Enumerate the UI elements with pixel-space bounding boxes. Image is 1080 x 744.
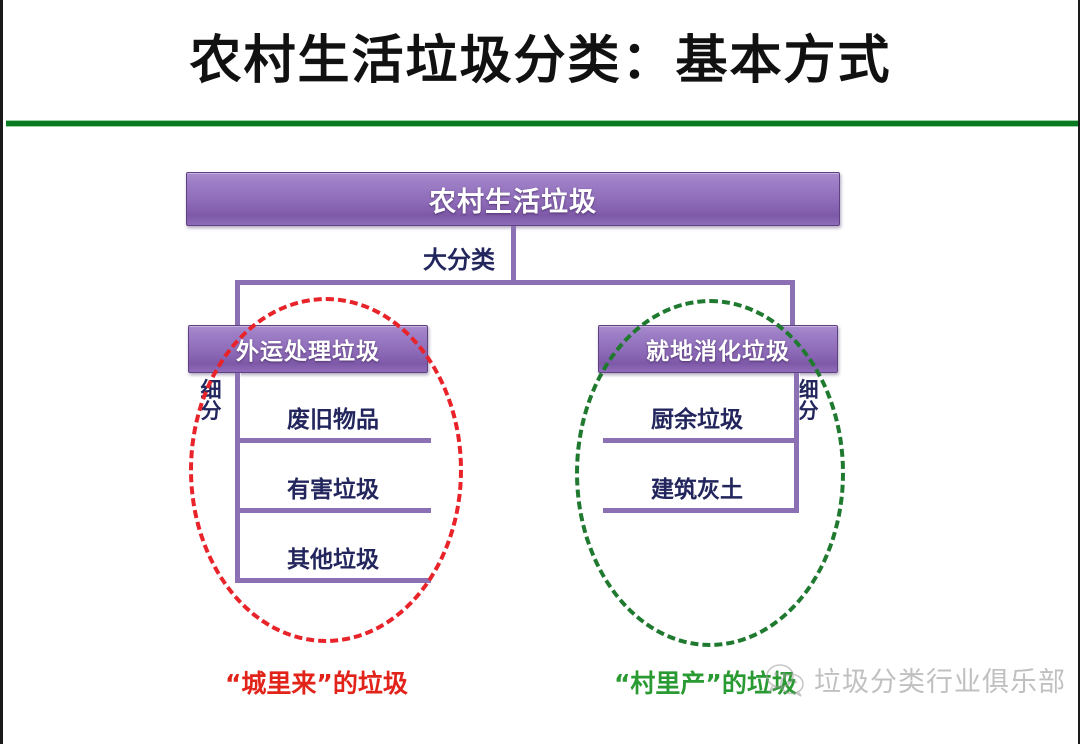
sub-item-label: 废旧物品 xyxy=(287,400,379,434)
sub-item-label: 建筑灰土 xyxy=(651,470,743,504)
node-branch-left-label: 外运处理垃圾 xyxy=(236,332,380,366)
node-root: 农村生活垃圾 xyxy=(186,172,840,226)
node-branch-right: 就地消化垃圾 xyxy=(598,325,838,373)
sub-item-left-1: 有害垃圾 xyxy=(235,443,431,513)
slide-canvas: 农村生活垃圾分类：基本方式 农村生活垃圾 大分类 外运处理垃圾 就地消化垃圾 细… xyxy=(0,0,1080,744)
sub-item-vertical-rule xyxy=(794,443,799,513)
sub-item-vertical-rule xyxy=(235,443,240,513)
node-root-label: 农村生活垃圾 xyxy=(429,180,597,219)
sub-item-left-0: 废旧物品 xyxy=(235,373,431,443)
sub-item-label: 其他垃圾 xyxy=(287,540,379,574)
sub-item-vertical-rule xyxy=(794,373,799,443)
connector-right-vertical xyxy=(790,280,795,328)
sub-item-vertical-rule xyxy=(235,373,240,443)
sub-item-left-2: 其他垃圾 xyxy=(235,513,431,583)
wechat-icon xyxy=(765,663,805,697)
slide-title-bar: 农村生活垃圾分类：基本方式 xyxy=(3,0,1078,122)
watermark-text: 垃圾分类行业俱乐部 xyxy=(814,660,1066,699)
title-divider-rule xyxy=(6,121,1080,126)
sub-item-vertical-rule xyxy=(235,513,240,583)
node-branch-right-label: 就地消化垃圾 xyxy=(646,332,790,366)
sub-item-label: 有害垃圾 xyxy=(287,470,379,504)
level-label-sub-right: 细分 xyxy=(796,380,820,423)
sub-item-label: 厨余垃圾 xyxy=(651,400,743,434)
connector-root-vertical xyxy=(511,226,516,282)
sub-item-underline xyxy=(235,578,431,583)
caption-left: “城里来”的垃圾 xyxy=(225,664,408,700)
connector-horizontal-split xyxy=(235,280,795,285)
sub-item-right-1: 建筑灰土 xyxy=(603,443,799,513)
watermark: 垃圾分类行业俱乐部 xyxy=(765,660,1066,699)
connector-left-vertical xyxy=(235,280,240,328)
page-title: 农村生活垃圾分类：基本方式 xyxy=(189,35,891,87)
sub-item-right-0: 厨余垃圾 xyxy=(603,373,799,443)
sub-item-underline xyxy=(603,508,799,513)
level-label-major: 大分类 xyxy=(413,240,505,275)
level-label-sub-left: 细分 xyxy=(199,380,223,423)
node-branch-left: 外运处理垃圾 xyxy=(188,325,428,373)
